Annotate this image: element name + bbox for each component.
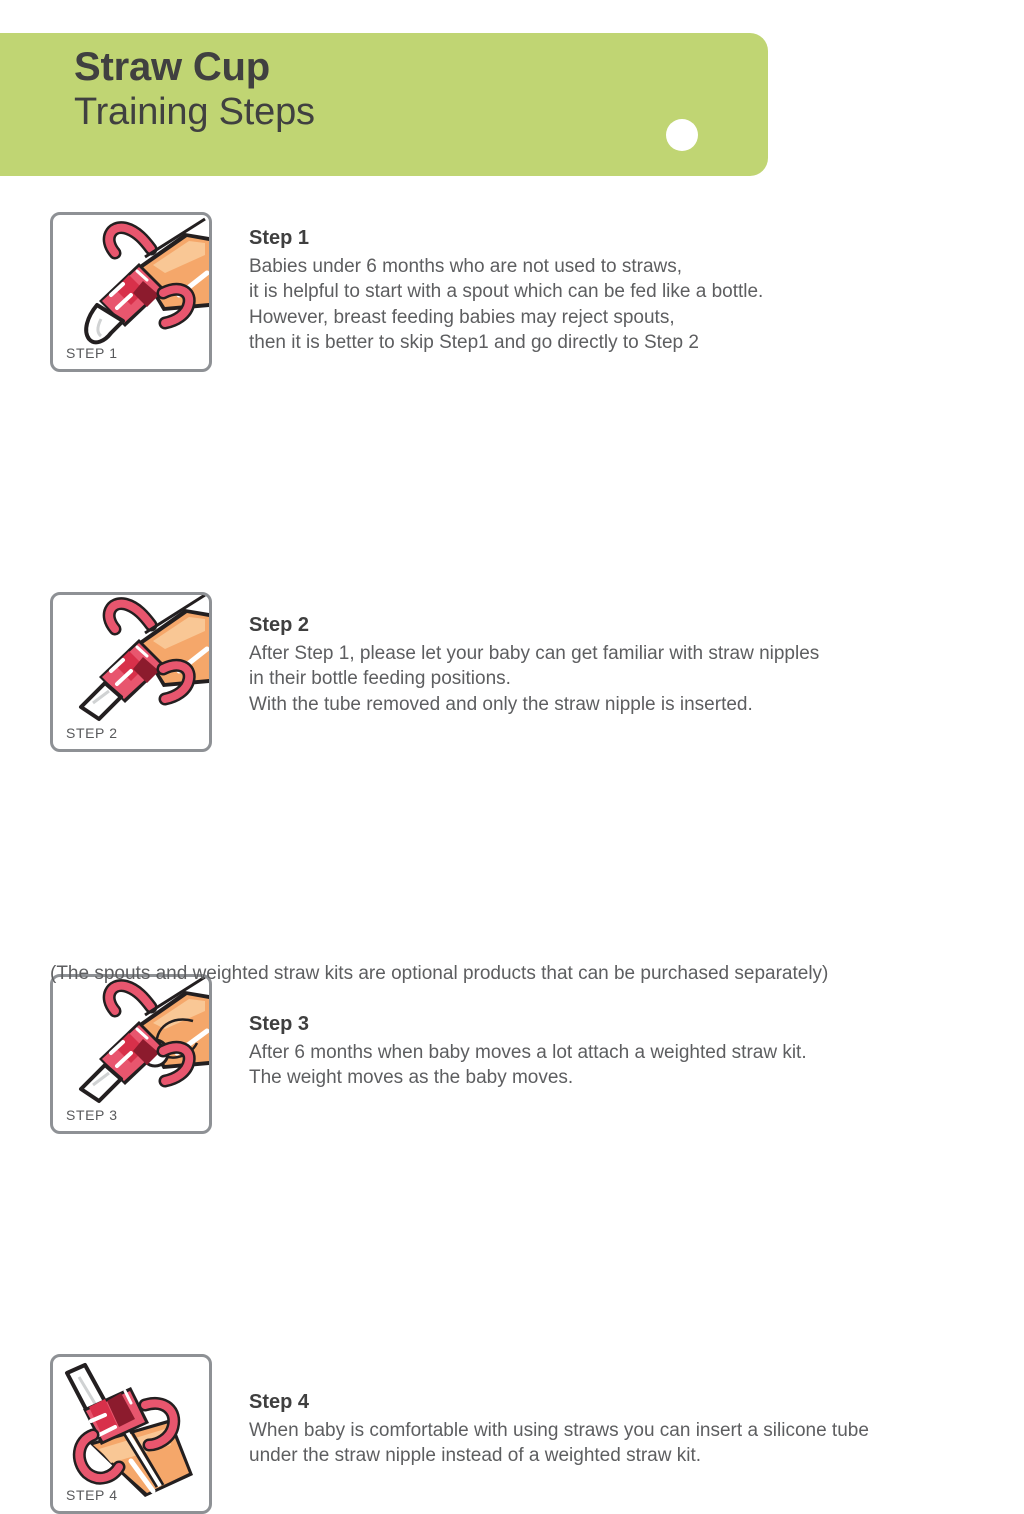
punch-hole-icon	[666, 119, 698, 151]
step-body: After 6 months when baby moves a lot att…	[249, 1040, 1004, 1091]
step-row: STEP 3 Step 3 After 6 months when baby m…	[0, 592, 1024, 782]
step-body: Babies under 6 months who are not used t…	[249, 254, 1004, 356]
step-1-text: Step 1 Babies under 6 months who are not…	[249, 226, 1004, 355]
title-line: Straw Cup	[74, 47, 315, 87]
step-3-illustration: STEP 3	[50, 974, 212, 1134]
step-row: STEP 1 Step 1 Babies under 6 months who …	[0, 212, 1024, 402]
step-figure-label: STEP 3	[66, 1107, 118, 1123]
step-4-illustration: STEP 4	[50, 1354, 212, 1514]
step-body: When baby is comfortable with using stra…	[249, 1418, 1004, 1469]
step-figure-label: STEP 1	[66, 345, 118, 361]
step-row: STEP 4 Step 4 When baby is comfortable w…	[0, 782, 1024, 972]
subtitle-line: Training Steps	[74, 93, 315, 131]
step-4-text: Step 4 When baby is comfortable with usi…	[249, 1390, 1004, 1469]
step-heading: Step 3	[249, 1012, 1004, 1038]
step-heading: Step 1	[249, 226, 1004, 252]
step-figure-label: STEP 4	[66, 1487, 118, 1503]
step-1-illustration: STEP 1	[50, 212, 212, 372]
step-row: STEP 2 Step 2 After Step 1, please let y…	[0, 402, 1024, 592]
step-heading: Step 4	[249, 1390, 1004, 1416]
steps-list: STEP 1 Step 1 Babies under 6 months who …	[0, 212, 1024, 972]
page-title: Straw Cup Training Steps	[74, 47, 315, 131]
footnote: (The spouts and weighted straw kits are …	[50, 962, 828, 987]
